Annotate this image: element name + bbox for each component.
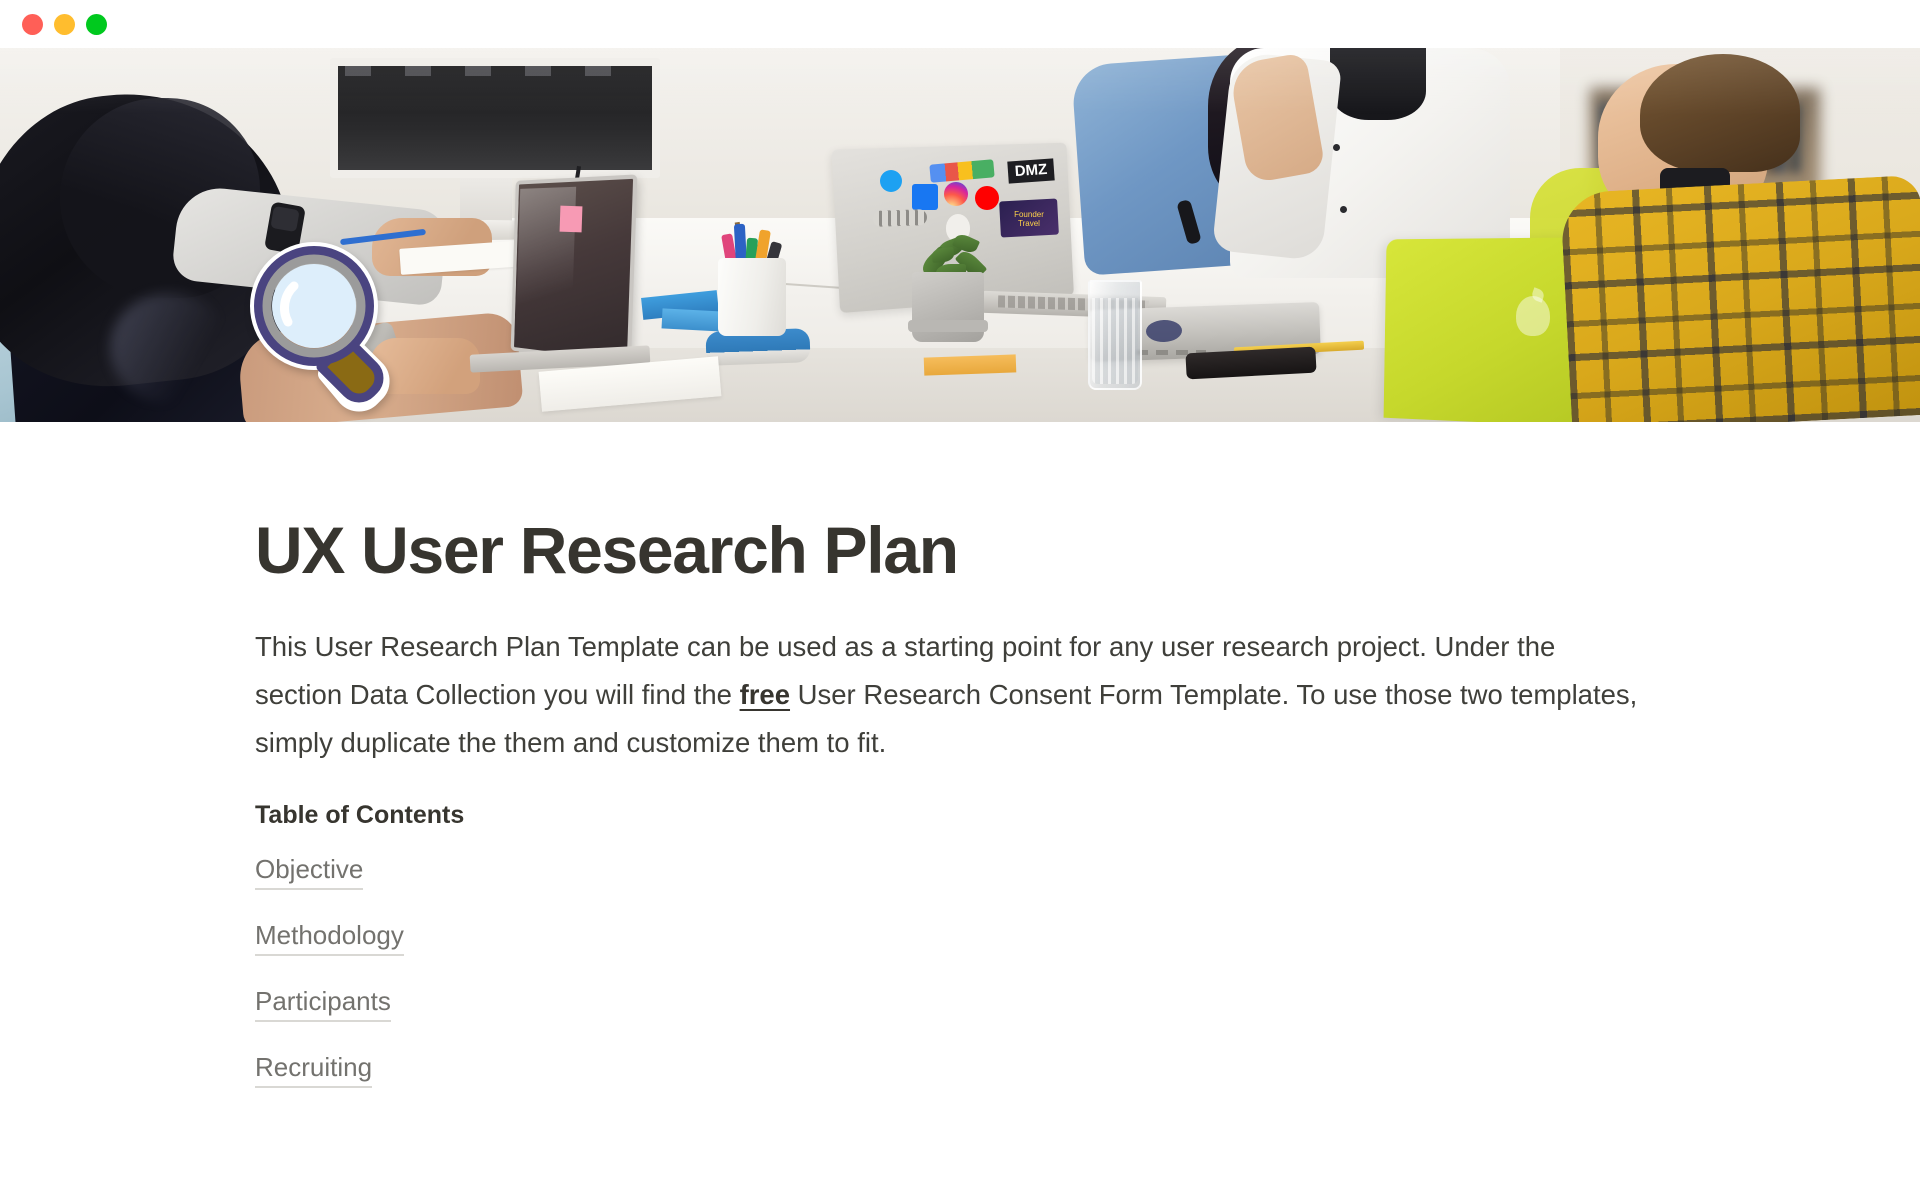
table-of-contents: Objective Methodology Participants Recru… (255, 852, 1920, 1088)
minimize-window-icon[interactable] (54, 14, 75, 35)
scene-macbook-apple-logo (1516, 296, 1550, 336)
scene-person-plaid-shirt (1560, 175, 1920, 422)
intro-free-emphasis: free (740, 679, 790, 710)
window-titlebar (0, 0, 1920, 48)
scene-sticker-instagram (944, 182, 968, 206)
intro-paragraph: This User Research Plan Template can be … (255, 623, 1645, 767)
scene-person-white-shirt-collar (1330, 48, 1426, 120)
scene-sticker-youtube (975, 186, 999, 210)
scene-sticky-note-orange (924, 354, 1017, 375)
toc-link-recruiting[interactable]: Recruiting (255, 1050, 372, 1088)
scene-sticker-twitter (880, 170, 902, 192)
close-window-icon[interactable] (22, 14, 43, 35)
toc-link-methodology[interactable]: Methodology (255, 918, 404, 956)
scene-person-left-shoulder-highlight (110, 293, 230, 403)
scene-sticker-founder-text: FounderTravel (1004, 210, 1054, 228)
scene-leaf (931, 247, 954, 263)
traffic-lights (22, 14, 107, 35)
app-window: DMZ FounderTravel (0, 0, 1920, 1200)
scene-sticker-dmz: DMZ (1007, 158, 1054, 183)
scene-drinking-glass-ridges (1092, 298, 1138, 384)
toc-link-participants[interactable]: Participants (255, 984, 391, 1022)
scene-person-plaid-hair (1640, 54, 1800, 172)
scene-monitor (330, 58, 660, 178)
page-content: UX User Research Plan This User Research… (0, 422, 1920, 1116)
scene-pink-sticky-tab (560, 206, 583, 233)
scene-shirt-button (1333, 144, 1340, 151)
table-of-contents-heading: Table of Contents (255, 801, 1920, 830)
toc-link-objective[interactable]: Objective (255, 852, 363, 890)
scene-shirt-button (1340, 206, 1347, 213)
scene-sticker-facebook (912, 184, 938, 210)
scene-sticky-note-blue-2 (662, 308, 725, 331)
scene-sticker-strip (873, 209, 928, 227)
scene-wristwatch-face (270, 206, 299, 232)
scene-monitor-ui (345, 66, 645, 76)
magnifying-glass-icon[interactable] (248, 240, 400, 418)
maximize-window-icon[interactable] (86, 14, 107, 35)
scene-plant-pot-rim (908, 320, 988, 332)
page-title: UX User Research Plan (255, 514, 1920, 587)
scene-pen-cup (718, 258, 786, 336)
